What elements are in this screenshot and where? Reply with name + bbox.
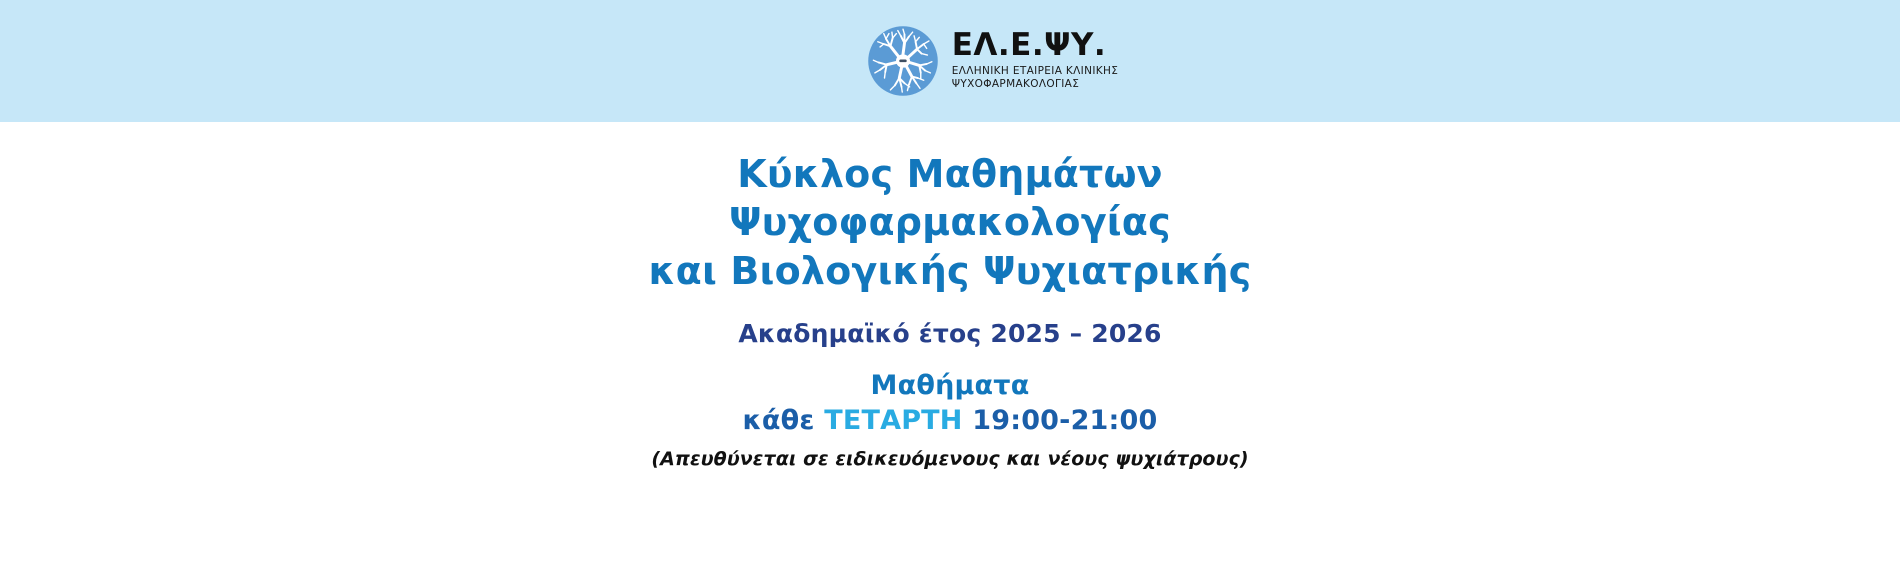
page-title: Κύκλος Μαθημάτων Ψυχοφαρμακολογίας και Β… [0, 122, 1900, 295]
logo-subtitle-line1: ΕΛΛΗΝΙΚΗ ΕΤΑΙΡΕΙΑ ΚΛΙΝΙΚΗΣ [952, 65, 1119, 78]
logo-subtitle-line2: ΨΥΧΟΦΑΡΜΑΚΟΛΟΓΙΑΣ [952, 78, 1119, 91]
logo-subtitle: ΕΛΛΗΝΙΚΗ ΕΤΑΙΡΕΙΑ ΚΛΙΝΙΚΗΣ ΨΥΧΟΦΑΡΜΑΚΟΛΟ… [952, 65, 1119, 92]
society-logo: ΕΛ.Ε.ΨΥ. ΕΛΛΗΝΙΚΗ ΕΤΑΙΡΕΙΑ ΚΛΙΝΙΚΗΣ ΨΥΧΟ… [866, 24, 1119, 98]
lessons-heading: Μαθήματα [0, 348, 1900, 401]
schedule-day: ΤΕΤΑΡΤΗ [824, 405, 962, 436]
poster-page: ΕΛ.Ε.ΨΥ. ΕΛΛΗΝΙΚΗ ΕΤΑΙΡΕΙΑ ΚΛΙΝΙΚΗΣ ΨΥΧΟ… [0, 0, 1900, 580]
poster-content: Κύκλος Μαθημάτων Ψυχοφαρμακολογίας και Β… [0, 122, 1900, 580]
schedule-prefix: κάθε [742, 405, 814, 436]
academic-year: Ακαδημαϊκό έτος 2025 – 2026 [0, 295, 1900, 348]
schedule-time: 19:00-21:00 [972, 405, 1157, 436]
header-band: ΕΛ.Ε.ΨΥ. ΕΛΛΗΝΙΚΗ ΕΤΑΙΡΕΙΑ ΚΛΙΝΙΚΗΣ ΨΥΧΟ… [0, 0, 1900, 122]
title-line-3: και Βιολογικής Ψυχιατρικής [0, 247, 1900, 295]
audience-note: (Απευθύνεται σε ειδικευόμενους και νέους… [0, 436, 1900, 470]
neuron-logo-icon [866, 24, 940, 98]
title-line-1: Κύκλος Μαθημάτων [0, 150, 1900, 198]
schedule-line: κάθε ΤΕΤΑΡΤΗ 19:00-21:00 [0, 401, 1900, 436]
title-line-2: Ψυχοφαρμακολογίας [0, 198, 1900, 246]
logo-wordmark: ΕΛ.Ε.ΨΥ. ΕΛΛΗΝΙΚΗ ΕΤΑΙΡΕΙΑ ΚΛΙΝΙΚΗΣ ΨΥΧΟ… [952, 30, 1119, 91]
logo-acronym: ΕΛ.Ε.ΨΥ. [952, 30, 1119, 62]
